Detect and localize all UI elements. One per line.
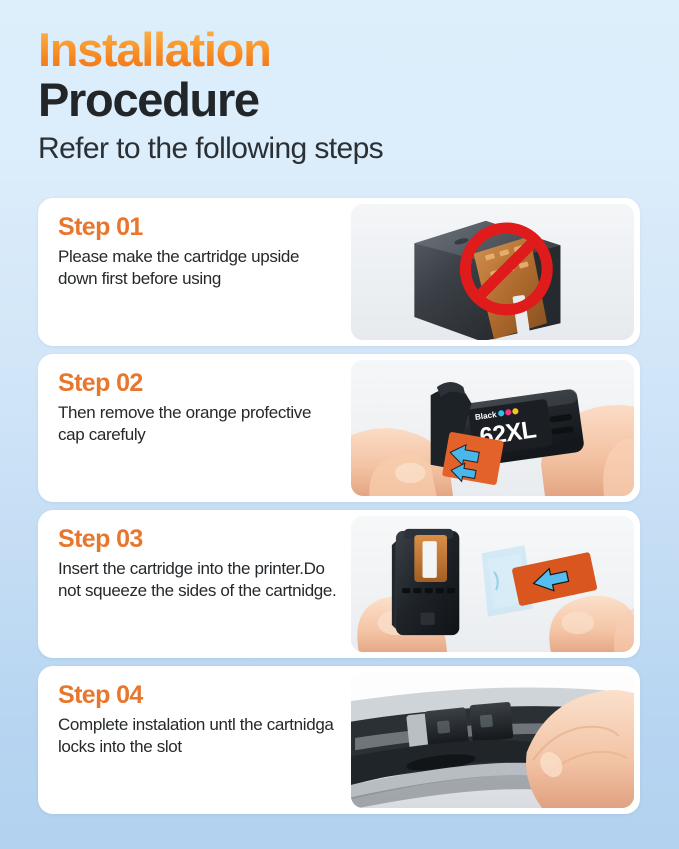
step-label: Step 03 xyxy=(58,526,339,554)
step-label: Step 04 xyxy=(58,682,339,710)
step-text-block: Step 02 Then remove the orange profectiv… xyxy=(38,354,351,502)
step-text-block: Step 04 Complete instalation untl the ca… xyxy=(38,666,351,814)
step-card: Step 04 Complete instalation untl the ca… xyxy=(38,666,640,814)
step-photo xyxy=(351,516,634,652)
step-photo xyxy=(351,672,634,808)
page-title-accent: Installation xyxy=(38,26,270,74)
installation-procedure-infographic: Installation Procedure Refer to the foll… xyxy=(0,0,679,849)
step-description: Then remove the orange profective cap ca… xyxy=(58,402,339,446)
step-label: Step 02 xyxy=(58,370,339,398)
page-subtitle: Refer to the following steps xyxy=(38,132,679,166)
step-card: Step 02 Then remove the orange profectiv… xyxy=(38,354,640,502)
page-title-main: Procedure xyxy=(38,75,679,125)
step-card: Step 03 Insert the cartridge into the pr… xyxy=(38,510,640,658)
step-text-block: Step 03 Insert the cartridge into the pr… xyxy=(38,510,351,658)
close-printer-slot-photo xyxy=(351,672,634,808)
step-description: Complete instalation untl the cartnidga … xyxy=(58,714,339,758)
cartridge-upside-down-prohibited-photo xyxy=(351,204,634,340)
step-description: Please make the cartridge upside down fi… xyxy=(58,246,339,290)
step-photo: Black 62XL xyxy=(351,360,634,496)
insert-cartridge-photo xyxy=(351,516,634,652)
step-text-block: Step 01 Please make the cartridge upside… xyxy=(38,198,351,346)
steps-list: Step 01 Please make the cartridge upside… xyxy=(38,198,640,822)
step-label: Step 01 xyxy=(58,214,339,242)
step-photo xyxy=(351,204,634,340)
remove-orange-cap-photo: Black 62XL xyxy=(351,360,634,496)
step-card: Step 01 Please make the cartridge upside… xyxy=(38,198,640,346)
header: Installation Procedure Refer to the foll… xyxy=(0,0,679,166)
step-description: Insert the cartridge into the printer.Do… xyxy=(58,558,339,602)
